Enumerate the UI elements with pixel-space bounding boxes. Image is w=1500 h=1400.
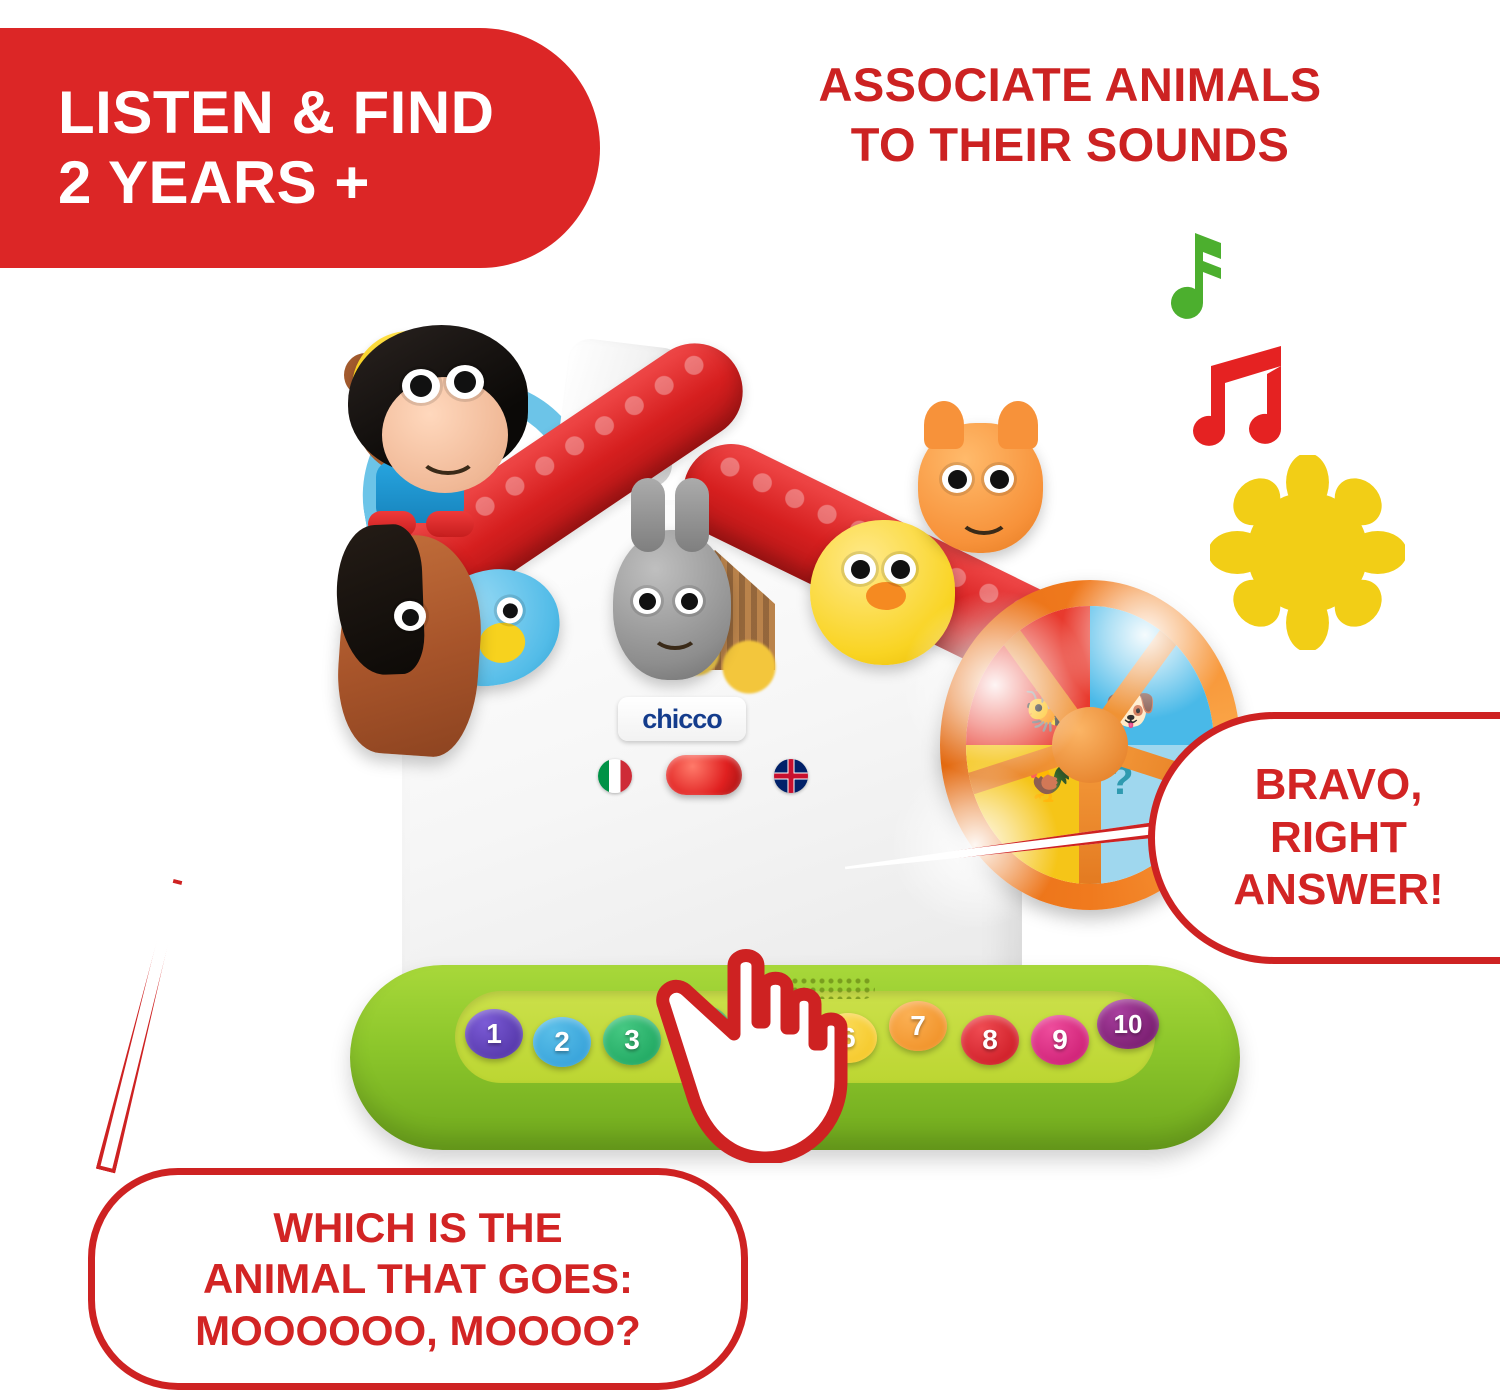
product-feature-graphic: LISTEN & FIND 2 YEARS + ASSOCIATE ANIMAL…: [0, 0, 1500, 1400]
callout-bravo: BRAVO, RIGHT ANSWER!: [1148, 712, 1500, 964]
age-badge-line1: LISTEN & FIND: [58, 78, 600, 148]
italian-flag-button[interactable]: [598, 759, 632, 793]
key-10[interactable]: 10: [1097, 999, 1159, 1049]
headline: ASSOCIATE ANIMALS TO THEIR SOUNDS: [760, 55, 1380, 175]
horse-mane: [334, 523, 425, 676]
red-play-button[interactable]: [666, 755, 742, 795]
pointing-hand-icon: [648, 948, 848, 1163]
key-8[interactable]: 8: [961, 1015, 1019, 1065]
wheel-hub[interactable]: [1052, 707, 1128, 783]
control-row: [598, 753, 808, 797]
callout-bravo-line1: BRAVO,: [1233, 759, 1443, 812]
age-badge: LISTEN & FIND 2 YEARS +: [0, 28, 600, 268]
animal-chick[interactable]: [810, 520, 955, 665]
callout-question-line2: ANIMAL THAT GOES:: [195, 1253, 641, 1304]
age-badge-line2: 2 YEARS +: [58, 148, 600, 218]
key-9[interactable]: 9: [1031, 1015, 1089, 1065]
callout-question-line3: MOOOOOO, MOOOO?: [195, 1305, 641, 1356]
callout-bravo-line3: ANSWER!: [1233, 864, 1443, 917]
callout-question: WHICH IS THE ANIMAL THAT GOES: MOOOOOO, …: [88, 1168, 748, 1390]
key-1[interactable]: 1: [465, 1009, 523, 1059]
headline-line2: TO THEIR SOUNDS: [760, 115, 1380, 175]
english-flag-button[interactable]: [774, 759, 808, 793]
headline-line1: ASSOCIATE ANIMALS: [760, 55, 1380, 115]
chicco-logo-text: chicco: [642, 704, 722, 735]
chick-beak-icon: [866, 582, 906, 610]
callout-bravo-line2: RIGHT: [1233, 812, 1443, 865]
animal-cat[interactable]: [918, 423, 1043, 553]
key-7[interactable]: 7: [889, 1001, 947, 1051]
animal-rabbit[interactable]: [613, 530, 731, 680]
chicco-logo: chicco: [618, 697, 746, 741]
callout-pointer-question: [96, 878, 188, 1174]
bird-beak-icon: [477, 620, 528, 666]
music-note-icon: [1165, 225, 1235, 335]
callout-question-line1: WHICH IS THE: [195, 1202, 641, 1253]
key-2[interactable]: 2: [533, 1017, 591, 1067]
